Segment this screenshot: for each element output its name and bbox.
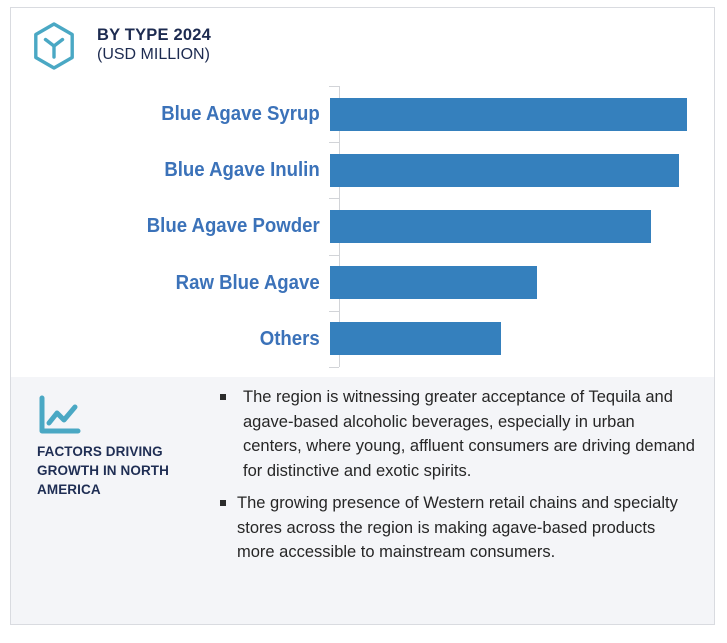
list-item: The growing presence of Western retail c… [216, 491, 696, 565]
chart-row: Blue Agave Syrup [11, 86, 714, 142]
chart-row: Blue Agave Powder [11, 198, 714, 254]
card-header: BY TYPE 2024 (USD MILLION) [11, 8, 714, 76]
bar-chart: Blue Agave SyrupBlue Agave InulinBlue Ag… [11, 78, 714, 376]
bar-label: Others [33, 328, 329, 350]
bar [330, 154, 679, 187]
bar [330, 266, 537, 299]
chart-row: Blue Agave Inulin [11, 142, 714, 198]
list-item: The region is witnessing greater accepta… [216, 385, 696, 483]
chart-row: Raw Blue Agave [11, 255, 714, 311]
insights-panel: FACTORS DRIVING GROWTH IN NORTH AMERICA … [11, 377, 714, 625]
infographic-card: BY TYPE 2024 (USD MILLION) Blue Agave Sy… [10, 7, 715, 625]
chart-row: Others [11, 311, 714, 367]
bar-cell [329, 142, 714, 198]
bar-cell [329, 255, 714, 311]
line-chart-icon [37, 424, 81, 441]
bar-label: Raw Blue Agave [33, 272, 329, 294]
bar-label: Blue Agave Inulin [33, 159, 329, 181]
insights-heading: FACTORS DRIVING GROWTH IN NORTH AMERICA [37, 442, 197, 499]
title-block: BY TYPE 2024 (USD MILLION) [97, 26, 211, 65]
hexagon-y-icon [28, 20, 80, 72]
bar [330, 322, 501, 355]
page-subtitle: (USD MILLION) [97, 45, 211, 65]
bar [330, 98, 687, 131]
chart-rows: Blue Agave SyrupBlue Agave InulinBlue Ag… [11, 86, 714, 367]
page-title: BY TYPE 2024 [97, 26, 211, 45]
bar [330, 210, 651, 243]
bar-label: Blue Agave Syrup [33, 103, 329, 125]
bar-cell [329, 86, 714, 142]
insights-panel-left: FACTORS DRIVING GROWTH IN NORTH AMERICA [37, 395, 197, 499]
bar-cell [329, 311, 714, 367]
bar-label: Blue Agave Powder [33, 215, 329, 237]
insights-bullet-list: The region is witnessing greater accepta… [216, 385, 696, 573]
bar-cell [329, 198, 714, 254]
